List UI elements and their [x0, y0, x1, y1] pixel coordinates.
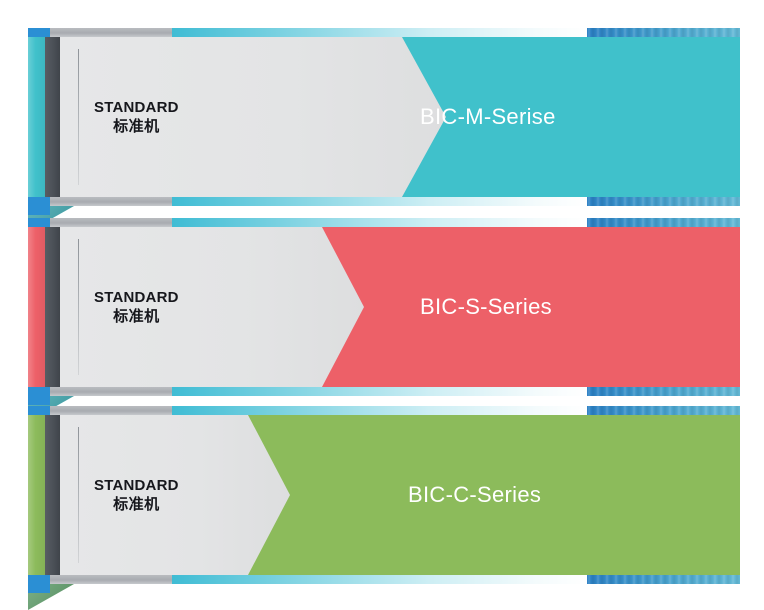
left-slate-bar: [45, 227, 60, 387]
card-top-edge-strip: [28, 28, 740, 37]
corner-fold-blue-tab: [28, 206, 50, 215]
edge-segment-gray: [50, 387, 172, 396]
edge-segment-teal-fade: [172, 387, 587, 396]
series-card-bic-s[interactable]: STANDARD标准机BIC-S-Series: [0, 218, 764, 396]
standard-label-cn: 标准机: [94, 495, 179, 514]
card-bottom-edge-strip: [28, 575, 740, 584]
card-body: STANDARD标准机BIC-C-Series: [28, 415, 740, 575]
panel-divider-line: [78, 49, 79, 185]
card-bottom-edge-strip: [28, 387, 740, 396]
edge-segment-gray: [50, 28, 172, 37]
panel-divider-line: [78, 239, 79, 375]
edge-segment-gray: [50, 197, 172, 206]
edge-segment-blue: [28, 28, 50, 37]
card-top-edge-strip: [28, 218, 740, 227]
edge-segment-teal-fade: [172, 406, 587, 415]
edge-segment-gray: [50, 218, 172, 227]
card-bottom-edge-strip: [28, 197, 740, 206]
standard-label-block: STANDARD标准机: [94, 476, 179, 514]
series-title: BIC-C-Series: [408, 482, 541, 508]
series-title: BIC-M-Serise: [420, 104, 556, 130]
left-accent-bar: [28, 415, 45, 575]
left-accent-bar: [28, 227, 45, 387]
standard-chevron-panel: STANDARD标准机: [60, 37, 446, 197]
left-slate-bar: [45, 37, 60, 197]
edge-segment-blue: [28, 406, 50, 415]
panel-divider-line: [78, 427, 79, 563]
edge-segment-teal-fade: [172, 218, 587, 227]
standard-chevron-panel: STANDARD标准机: [60, 227, 364, 387]
series-card-bic-c[interactable]: STANDARD标准机BIC-C-Series: [0, 406, 764, 584]
edge-segment-deep-blue: [587, 197, 740, 206]
standard-label-en: STANDARD: [94, 476, 179, 495]
corner-fold-blue-tab: [28, 584, 50, 593]
edge-segment-blue: [28, 218, 50, 227]
edge-segment-deep-blue: [587, 218, 740, 227]
edge-segment-deep-blue: [587, 28, 740, 37]
standard-label-en: STANDARD: [94, 288, 179, 307]
left-accent-bar: [28, 37, 45, 197]
edge-segment-gray: [50, 575, 172, 584]
standard-label-block: STANDARD标准机: [94, 98, 179, 136]
series-card-bic-m[interactable]: STANDARD标准机BIC-M-Serise: [0, 28, 764, 206]
edge-segment-teal-fade: [172, 197, 587, 206]
edge-segment-deep-blue: [587, 387, 740, 396]
standard-chevron-panel: STANDARD标准机: [60, 415, 290, 575]
edge-segment-blue: [28, 575, 50, 584]
card-body: STANDARD标准机BIC-S-Series: [28, 227, 740, 387]
series-title: BIC-S-Series: [420, 294, 552, 320]
edge-segment-blue: [28, 387, 50, 396]
card-top-edge-strip: [28, 406, 740, 415]
card-body: STANDARD标准机BIC-M-Serise: [28, 37, 740, 197]
edge-segment-deep-blue: [587, 575, 740, 584]
edge-segment-gray: [50, 406, 172, 415]
corner-fold-blue-tab: [28, 396, 50, 405]
standard-label-en: STANDARD: [94, 98, 179, 117]
standard-label-cn: 标准机: [94, 307, 179, 326]
edge-segment-deep-blue: [587, 406, 740, 415]
edge-segment-blue: [28, 197, 50, 206]
standard-label-cn: 标准机: [94, 117, 179, 136]
standard-label-block: STANDARD标准机: [94, 288, 179, 326]
edge-segment-teal-fade: [172, 28, 587, 37]
left-slate-bar: [45, 415, 60, 575]
edge-segment-teal-fade: [172, 575, 587, 584]
banner-stage: STANDARD标准机BIC-M-SeriseSTANDARD标准机BIC-S-…: [0, 0, 764, 575]
